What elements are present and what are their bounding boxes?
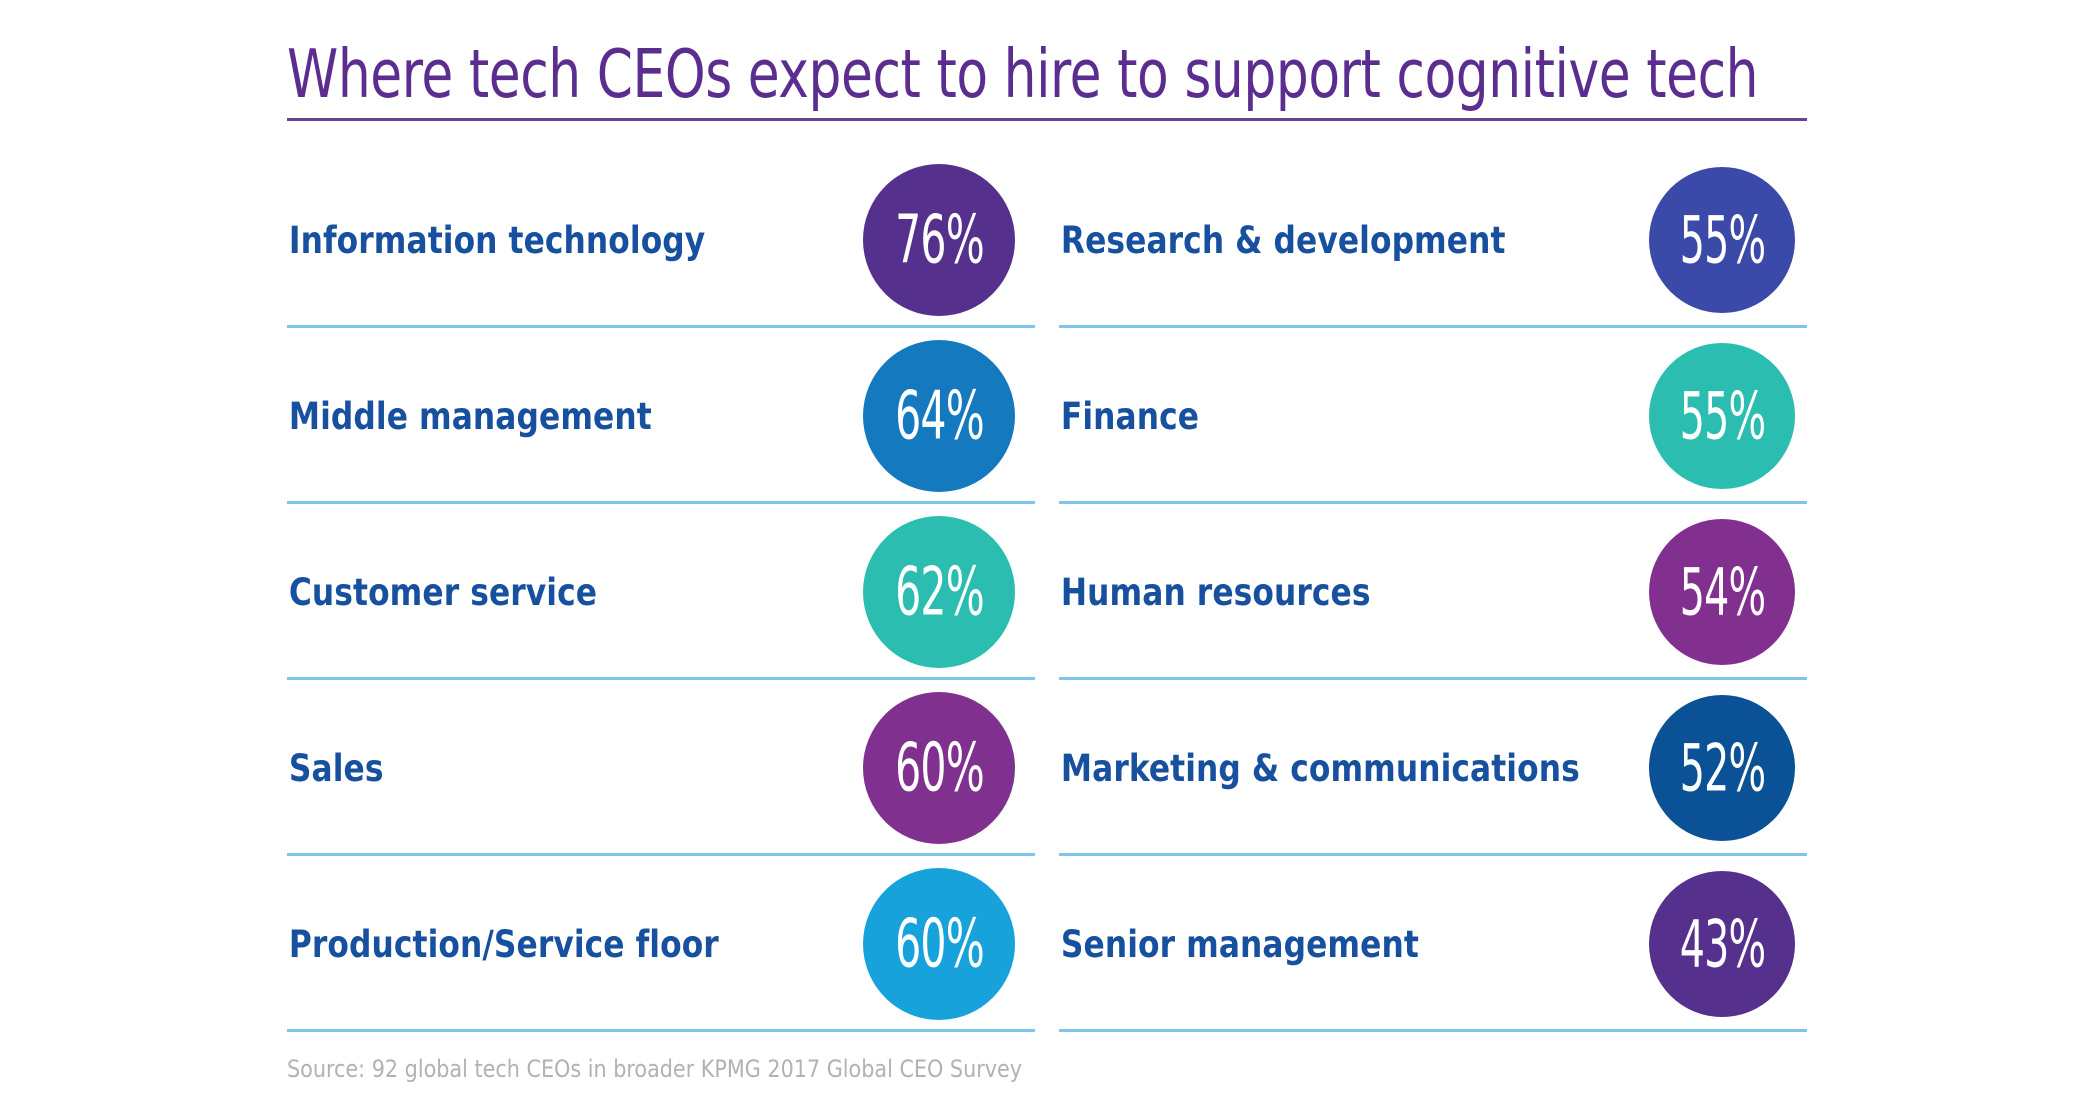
stat-row: Marketing & communications 52% — [1059, 680, 1807, 856]
percent-bubble: 60% — [863, 692, 1015, 844]
percent-value: 52% — [1679, 736, 1765, 801]
stat-label: Finance — [1059, 395, 1614, 438]
percent-value: 60% — [895, 734, 984, 801]
infographic-canvas: Where tech CEOs expect to hire to suppor… — [0, 0, 2093, 1096]
stat-label: Middle management — [287, 395, 828, 438]
stat-row: Research & development 55% — [1059, 152, 1807, 328]
row-divider — [1059, 1029, 1807, 1032]
percent-value: 64% — [895, 382, 984, 449]
percent-bubble: 62% — [863, 516, 1015, 668]
percent-value: 76% — [895, 206, 984, 273]
percent-value: 55% — [1679, 384, 1765, 449]
percent-bubble: 55% — [1649, 343, 1795, 489]
percent-value: 55% — [1679, 208, 1765, 273]
stat-label: Marketing & communications — [1059, 747, 1614, 790]
stat-label: Human resources — [1059, 571, 1614, 614]
page-title: Where tech CEOs expect to hire to suppor… — [287, 36, 1594, 112]
percent-value: 60% — [895, 910, 984, 977]
stat-row: Finance 55% — [1059, 328, 1807, 504]
title-block: Where tech CEOs expect to hire to suppor… — [287, 36, 1807, 121]
stat-label: Senior management — [1059, 923, 1614, 966]
percent-value: 43% — [1679, 912, 1765, 977]
row-divider — [287, 1029, 1035, 1032]
stat-label: Sales — [287, 747, 828, 790]
stats-columns: Information technology 76% Middle manage… — [287, 152, 1807, 1032]
right-column: Research & development 55% Finance 55% H… — [1059, 152, 1807, 1032]
percent-bubble: 52% — [1649, 695, 1795, 841]
left-column: Information technology 76% Middle manage… — [287, 152, 1035, 1032]
stat-row: Sales 60% — [287, 680, 1035, 856]
percent-bubble: 64% — [863, 340, 1015, 492]
stat-label: Research & development — [1059, 219, 1614, 262]
stat-row: Production/Service floor 60% — [287, 856, 1035, 1032]
percent-value: 62% — [895, 558, 984, 625]
stat-row: Senior management 43% — [1059, 856, 1807, 1032]
title-underline-rule — [287, 118, 1807, 121]
percent-value: 54% — [1679, 560, 1765, 625]
stat-label: Information technology — [287, 219, 828, 262]
stat-row: Customer service 62% — [287, 504, 1035, 680]
percent-bubble: 55% — [1649, 167, 1795, 313]
percent-bubble: 54% — [1649, 519, 1795, 665]
stat-label: Customer service — [287, 571, 828, 614]
stat-row: Information technology 76% — [287, 152, 1035, 328]
stat-label: Production/Service floor — [287, 923, 828, 966]
percent-bubble: 43% — [1649, 871, 1795, 1017]
percent-bubble: 76% — [863, 164, 1015, 316]
stat-row: Human resources 54% — [1059, 504, 1807, 680]
source-note: Source: 92 global tech CEOs in broader K… — [287, 1055, 1022, 1083]
stat-row: Middle management 64% — [287, 328, 1035, 504]
percent-bubble: 60% — [863, 868, 1015, 1020]
